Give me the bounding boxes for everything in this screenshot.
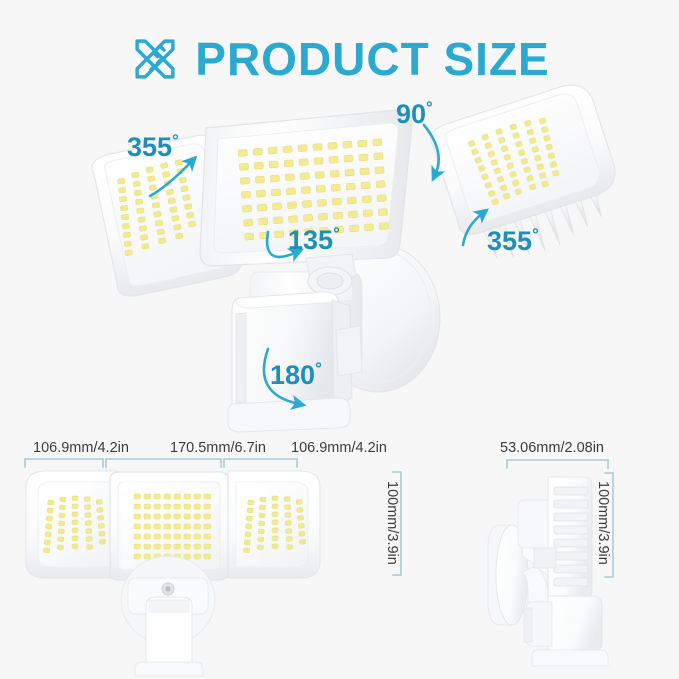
dim-label-height-front: 100mm/3.9in [384,481,400,565]
dim-label-height-side: 100mm/3.9in [595,481,611,565]
side-motion-sensor [524,596,608,666]
dim-label-width-right: 106.9mm/4.2in [291,440,387,456]
dim-label-width-left: 106.9mm/4.2in [33,440,129,456]
side-view-illustration [0,0,679,679]
infographic-canvas: PRODUCT SIZE [0,0,679,679]
dim-label-width-center: 170.5mm/6.7in [170,440,266,456]
bracket-depth-side [507,460,608,468]
dim-label-depth-side: 53.06mm/2.08in [500,440,604,456]
